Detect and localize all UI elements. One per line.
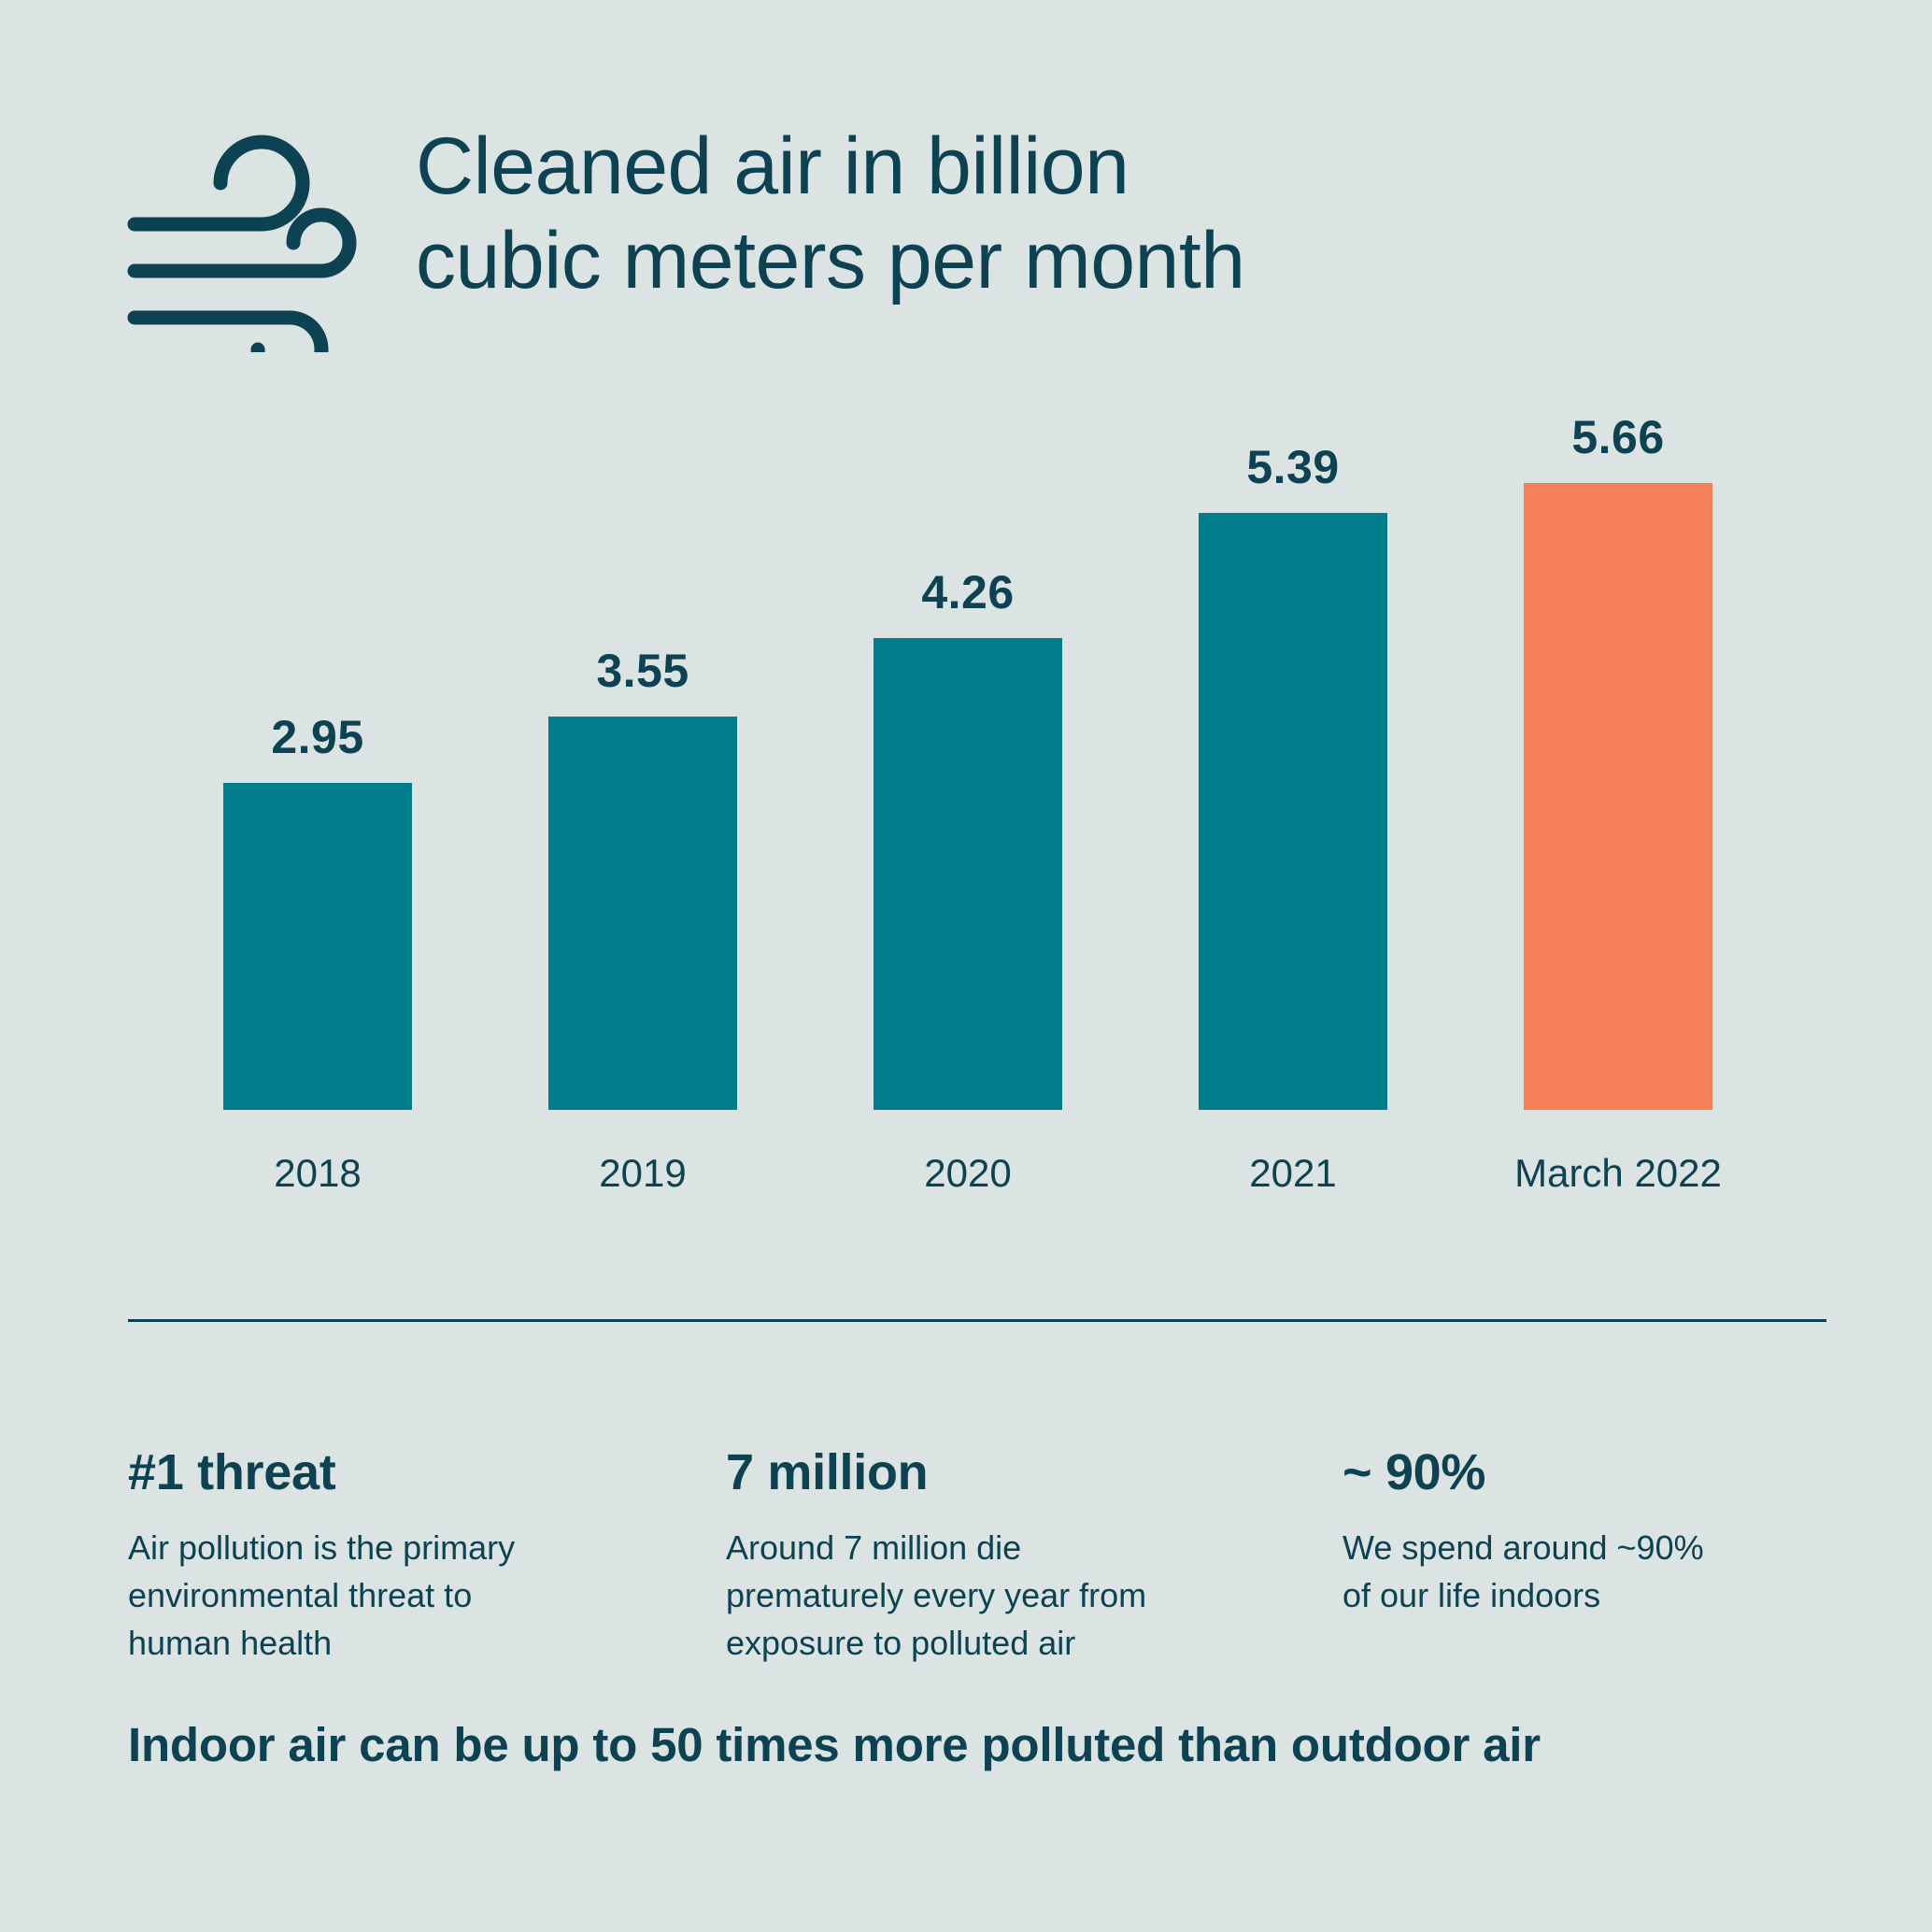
bar-value-label: 5.66 — [1524, 410, 1712, 464]
stat-body: We spend around ~90% of our life indoors — [1342, 1524, 1838, 1619]
stats-row: #1 threat Air pollution is the primary e… — [128, 1446, 1838, 1667]
stat-body: Around 7 million die prematurely every y… — [726, 1524, 1286, 1667]
infographic-canvas: Cleaned air in billion cubic meters per … — [0, 0, 1932, 1932]
tagline: Indoor air can be up to 50 times more po… — [128, 1717, 1541, 1772]
stat-headline: #1 threat — [128, 1446, 670, 1499]
bar-category-label: 2021 — [1143, 1151, 1443, 1196]
bar-chart: 2.9520183.5520194.2620205.3920215.66Marc… — [0, 0, 1932, 1215]
bar-column: 5.392021 — [1199, 0, 1387, 1110]
bar-value-label: 4.26 — [874, 565, 1062, 619]
bar-column: 2.952018 — [223, 0, 412, 1110]
bar-category-label: 2018 — [167, 1151, 468, 1196]
stat-body: Air pollution is the primary environment… — [128, 1524, 670, 1667]
bar-value-label: 3.55 — [548, 644, 737, 698]
stat-block-indoors: ~ 90% We spend around ~90% of our life i… — [1342, 1446, 1838, 1619]
stat-headline: ~ 90% — [1342, 1446, 1838, 1499]
bar[interactable] — [548, 717, 737, 1110]
stat-headline: 7 million — [726, 1446, 1286, 1499]
bar-category-label: March 2022 — [1468, 1151, 1769, 1196]
bar-category-label: 2019 — [492, 1151, 793, 1196]
bar[interactable] — [874, 638, 1062, 1110]
bar[interactable] — [1524, 483, 1712, 1110]
bar-category-label: 2020 — [817, 1151, 1118, 1196]
stat-block-threat: #1 threat Air pollution is the primary e… — [128, 1446, 726, 1667]
stat-block-deaths: 7 million Around 7 million die premature… — [726, 1446, 1342, 1667]
bar-column: 3.552019 — [548, 0, 737, 1110]
bar-value-label: 5.39 — [1199, 440, 1387, 494]
bar-column: 5.66March 2022 — [1524, 0, 1712, 1110]
section-divider — [128, 1319, 1826, 1322]
bar-column: 4.262020 — [874, 0, 1062, 1110]
bar[interactable] — [223, 783, 412, 1110]
bar-value-label: 2.95 — [223, 710, 412, 764]
bar[interactable] — [1199, 513, 1387, 1110]
